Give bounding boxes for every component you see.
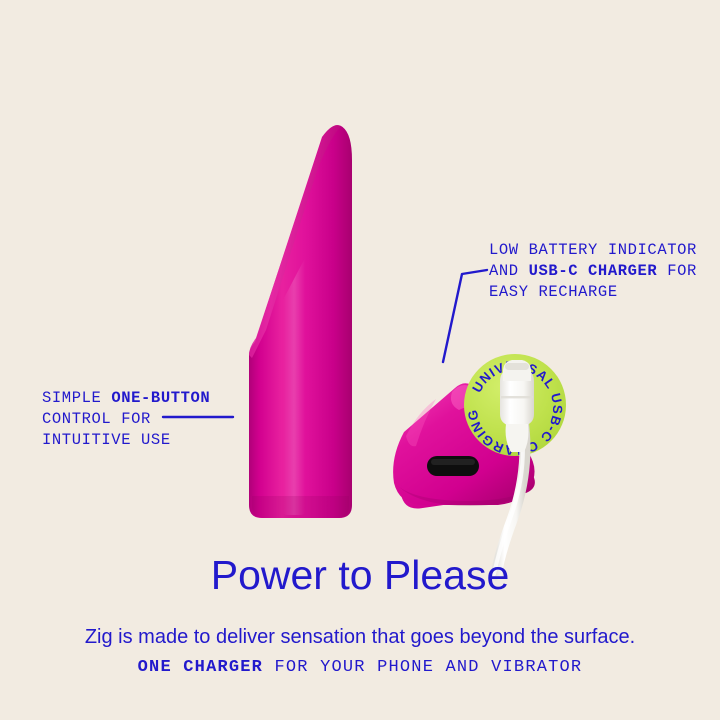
product-illustration: UNIVERSAL USB-C CHARGING <box>0 0 720 720</box>
page-headline: Power to Please <box>0 552 720 599</box>
callout-right-line2-before: AND <box>489 262 529 280</box>
callout-right-line1: LOW BATTERY INDICATOR <box>489 241 697 259</box>
one-button-control-callout: SIMPLE ONE-BUTTON CONTROL FOR INTUITIVE … <box>42 388 210 451</box>
callout-right-line2-after: FOR <box>657 262 697 280</box>
product-marketing-image: UNIVERSAL USB-C CHARGING SIMPLE ONE-BUTT… <box>0 0 720 720</box>
battery-usbc-callout: LOW BATTERY INDICATOR AND USB-C CHARGER … <box>489 240 697 303</box>
tagline-rest: FOR YOUR PHONE AND VIBRATOR <box>263 658 582 677</box>
callout-left-line1-bold: ONE-BUTTON <box>111 389 210 407</box>
page-tagline: ONE CHARGER FOR YOUR PHONE AND VIBRATOR <box>0 658 720 677</box>
usb-c-port-slot <box>427 456 479 476</box>
callout-right-line2-bold: USB-C CHARGER <box>529 262 658 280</box>
callout-left-line3: INTUITIVE USE <box>42 431 171 449</box>
zig-vibrator-body <box>249 125 352 518</box>
callout-right-line3: EASY RECHARGE <box>489 283 618 301</box>
page-subtitle: Zig is made to deliver sensation that go… <box>0 626 720 649</box>
tagline-bold: ONE CHARGER <box>138 658 263 677</box>
callout-left-line2: CONTROL FOR <box>42 410 151 428</box>
callout-left-line1-plain: SIMPLE <box>42 389 111 407</box>
leader-line-right <box>443 270 487 362</box>
